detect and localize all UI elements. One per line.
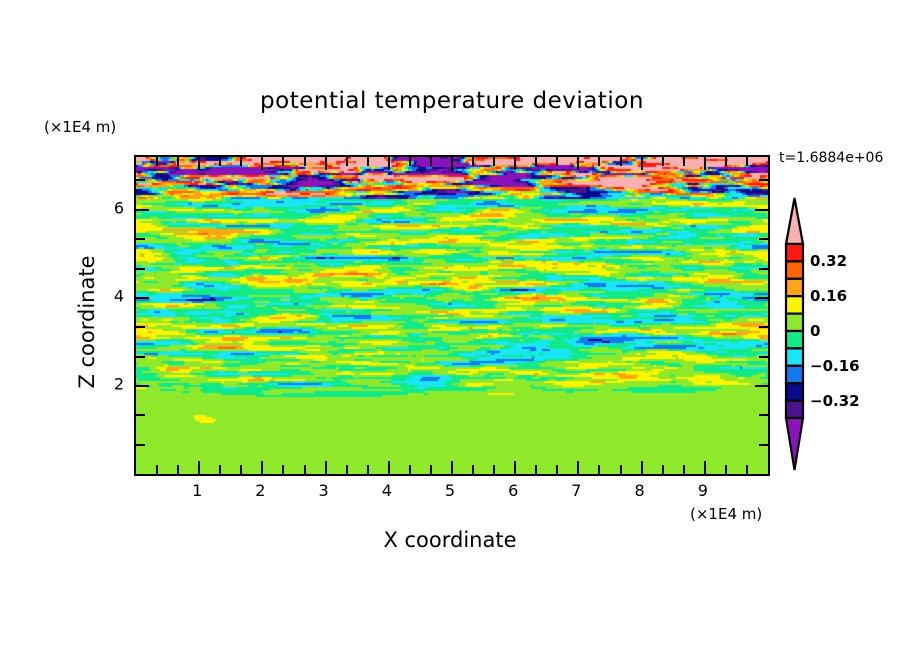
x-tick: [641, 461, 643, 474]
contour-field-canvas: [136, 157, 768, 474]
z-tick-right: [755, 209, 768, 211]
colorbar-tick-label: 0.16: [810, 287, 847, 305]
x-tick: [577, 461, 579, 474]
x-tick-top: [325, 157, 327, 170]
x-tick: [346, 465, 348, 474]
colorbar-tick-label: −0.16: [810, 357, 860, 375]
colorbar-under-cap: [786, 418, 803, 470]
x-tick: [198, 461, 200, 474]
colorbar-tick-label: −0.32: [810, 392, 860, 410]
x-axis-title: X coordinate: [134, 528, 766, 552]
z-tick: [136, 356, 145, 358]
x-tick-label: 7: [571, 481, 581, 500]
x-tick-top: [514, 157, 516, 170]
colorbar-band: [786, 366, 803, 383]
x-axis-unit-label: (×1E4 m): [690, 505, 762, 523]
x-tick-top: [409, 157, 411, 166]
colorbar-band: [786, 348, 803, 365]
x-tick: [556, 465, 558, 474]
x-tick-top: [598, 157, 600, 166]
colorbar-tick-label: 0.32: [810, 252, 847, 270]
x-tick: [472, 465, 474, 474]
x-tick: [177, 465, 179, 474]
z-tick: [136, 268, 145, 270]
z-tick: [136, 238, 145, 240]
x-tick: [535, 465, 537, 474]
x-tick: [451, 461, 453, 474]
x-tick-top: [430, 157, 432, 166]
y-axis-title: Z coordinate: [75, 222, 99, 422]
z-tick-label: 2: [96, 374, 124, 393]
x-tick: [240, 465, 242, 474]
colorbar-band: [786, 279, 803, 296]
z-tick: [136, 179, 145, 181]
x-tick-top: [620, 157, 622, 166]
z-tick-label: 4: [96, 286, 124, 305]
x-tick: [662, 465, 664, 474]
x-tick-top: [177, 157, 179, 166]
x-tick: [156, 465, 158, 474]
z-tick: [136, 414, 145, 416]
z-tick: [136, 444, 145, 446]
x-tick: [367, 465, 369, 474]
x-tick: [409, 465, 411, 474]
y-axis-unit-label: (×1E4 m): [44, 118, 116, 136]
x-tick-top: [219, 157, 221, 166]
x-tick-label: 3: [319, 481, 329, 500]
x-tick-top: [261, 157, 263, 170]
colorbar-band: [786, 401, 803, 418]
figure-canvas: potential temperature deviation (×1E4 m)…: [0, 0, 904, 654]
colorbar-band: [786, 331, 803, 348]
x-tick-top: [198, 157, 200, 170]
x-tick-top: [156, 157, 158, 166]
colorbar-band: [786, 244, 803, 261]
x-tick-top: [493, 157, 495, 166]
x-tick-top: [746, 157, 748, 166]
x-tick-top: [535, 157, 537, 166]
x-tick-label: 8: [635, 481, 645, 500]
x-tick-top: [704, 157, 706, 170]
x-tick-top: [472, 157, 474, 166]
x-tick-top: [367, 157, 369, 166]
x-tick: [620, 465, 622, 474]
x-tick: [493, 465, 495, 474]
colorbar-band: [786, 296, 803, 313]
x-tick: [704, 461, 706, 474]
colorbar-over-cap: [786, 198, 803, 244]
colorbar-band: [786, 383, 803, 400]
z-tick: [136, 326, 145, 328]
x-tick-top: [641, 157, 643, 170]
x-tick: [388, 461, 390, 474]
z-tick-right: [759, 238, 768, 240]
z-tick-right: [759, 179, 768, 181]
x-tick-top: [451, 157, 453, 170]
z-tick: [136, 297, 149, 299]
x-tick-top: [282, 157, 284, 166]
z-tick-right: [759, 414, 768, 416]
z-tick-right: [759, 326, 768, 328]
colorbar-tick-label: 0: [810, 322, 820, 340]
x-tick-top: [683, 157, 685, 166]
x-tick-top: [346, 157, 348, 166]
time-annotation: t=1.6884e+06: [779, 150, 883, 166]
x-tick: [282, 465, 284, 474]
colorbar-band: [786, 261, 803, 278]
x-tick-top: [556, 157, 558, 166]
x-tick: [304, 465, 306, 474]
z-tick-right: [759, 444, 768, 446]
x-tick-label: 4: [382, 481, 392, 500]
x-tick-top: [725, 157, 727, 166]
x-tick-label: 1: [192, 481, 202, 500]
x-tick-top: [577, 157, 579, 170]
x-tick-label: 9: [698, 481, 708, 500]
z-tick-right: [759, 356, 768, 358]
x-tick: [430, 465, 432, 474]
x-tick: [514, 461, 516, 474]
x-tick-top: [304, 157, 306, 166]
z-tick-right: [755, 297, 768, 299]
x-tick-top: [662, 157, 664, 166]
x-tick: [725, 465, 727, 474]
z-tick-right: [755, 385, 768, 387]
z-tick-right: [759, 268, 768, 270]
x-tick-label: 6: [508, 481, 518, 500]
x-tick-top: [388, 157, 390, 170]
x-tick: [598, 465, 600, 474]
x-tick-label: 5: [445, 481, 455, 500]
x-tick: [683, 465, 685, 474]
page-title: potential temperature deviation: [0, 88, 904, 114]
x-tick-label: 2: [255, 481, 265, 500]
x-tick: [219, 465, 221, 474]
x-tick: [325, 461, 327, 474]
colorbar: 0.320.160−0.16−0.32: [780, 196, 900, 526]
contour-plot-area: [134, 155, 770, 476]
z-tick: [136, 385, 149, 387]
x-tick-top: [240, 157, 242, 166]
x-tick: [261, 461, 263, 474]
colorbar-band: [786, 314, 803, 331]
x-tick: [746, 465, 748, 474]
z-tick-label: 6: [96, 198, 124, 217]
z-tick: [136, 209, 149, 211]
